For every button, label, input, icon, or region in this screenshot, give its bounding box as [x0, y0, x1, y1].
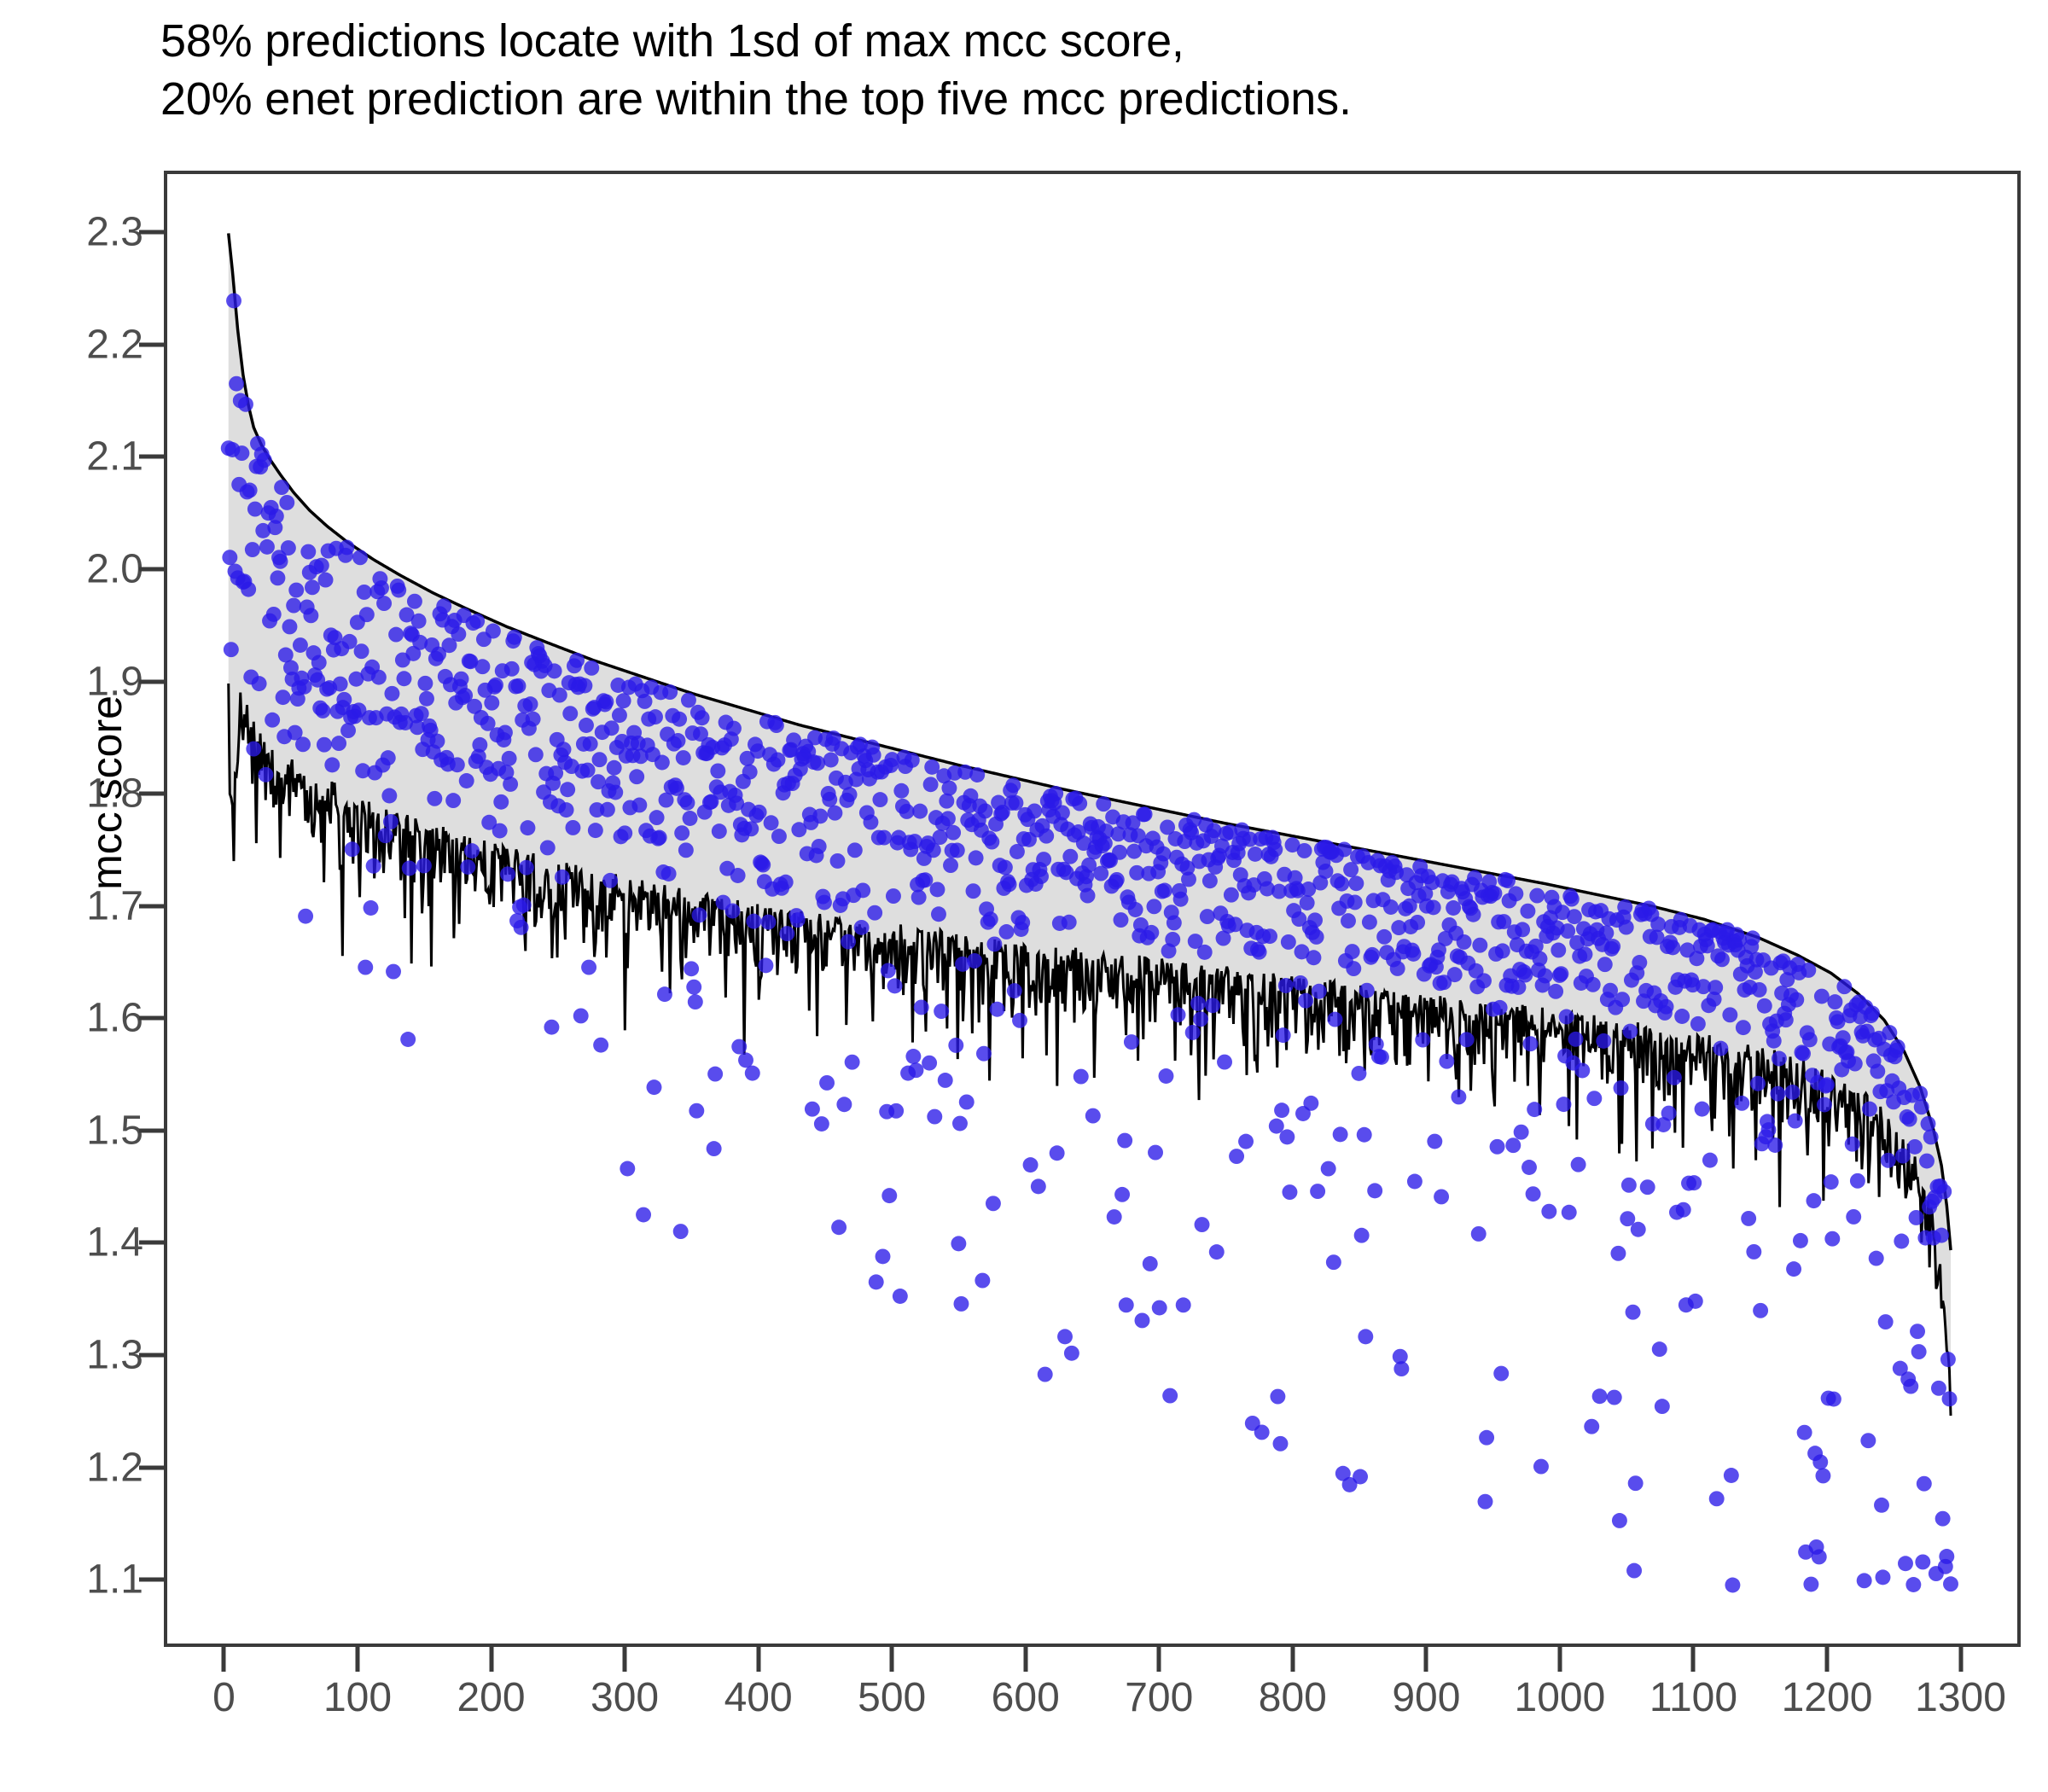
scatter-point	[1343, 862, 1359, 877]
scatter-point	[1345, 944, 1360, 959]
scatter-point	[1862, 1102, 1877, 1117]
scatter-point	[1181, 872, 1196, 887]
scatter-point	[266, 607, 282, 622]
scatter-point	[810, 755, 825, 771]
x-tick-mark	[1557, 1647, 1562, 1672]
scatter-point	[1860, 1433, 1876, 1448]
scatter-point	[1002, 876, 1017, 892]
scatter-point	[673, 1224, 689, 1239]
scatter-point	[1612, 1513, 1627, 1528]
scatter-point	[941, 781, 957, 796]
scatter-point	[1752, 982, 1767, 998]
scatter-point	[933, 829, 948, 845]
scatter-point	[1173, 892, 1189, 907]
y-tick-label: 1.9	[0, 658, 143, 705]
scatter-point	[1318, 864, 1334, 879]
scatter-point	[927, 1109, 942, 1125]
scatter-point	[969, 850, 984, 865]
scatter-point	[584, 660, 599, 676]
scatter-point	[1446, 900, 1461, 916]
scatter-point	[450, 757, 465, 772]
scatter-point	[1407, 1174, 1423, 1190]
scatter-point	[340, 723, 356, 738]
scatter-point	[692, 907, 707, 922]
scatter-point	[1597, 957, 1613, 972]
scatter-point	[502, 751, 517, 766]
scatter-point	[503, 777, 518, 792]
scatter-point	[1185, 1025, 1201, 1040]
scatter-point	[1209, 1244, 1225, 1260]
scatter-point	[769, 718, 784, 733]
scatter-point	[1785, 1085, 1801, 1100]
scatter-point	[1124, 1034, 1139, 1050]
scatter-point	[975, 1273, 990, 1289]
scatter-point	[1459, 1032, 1475, 1047]
scatter-point	[224, 642, 239, 657]
scatter-point	[1114, 1187, 1130, 1202]
scatter-point	[1517, 968, 1533, 983]
scatter-point	[1359, 983, 1375, 998]
scatter-point	[1667, 1070, 1682, 1085]
scatter-point	[388, 627, 404, 643]
scatter-point	[241, 582, 256, 597]
scatter-point	[1190, 996, 1206, 1011]
scatter-point	[608, 785, 623, 800]
scatter-point	[297, 679, 312, 695]
scatter-point	[581, 960, 596, 975]
scatter-point	[695, 710, 710, 725]
scatter-point	[345, 841, 360, 857]
scatter-point	[922, 1056, 937, 1071]
scatter-point	[451, 626, 466, 642]
scatter-point	[1269, 1119, 1284, 1134]
scatter-point	[1652, 1341, 1667, 1357]
scatter-point	[1390, 961, 1405, 976]
scatter-point	[1031, 1178, 1046, 1194]
scatter-point	[381, 788, 397, 804]
scatter-point	[293, 637, 308, 653]
scatter-point	[990, 1002, 1005, 1017]
scatter-point	[1665, 940, 1680, 955]
scatter-point	[1614, 1080, 1629, 1096]
scatter-point	[1027, 803, 1042, 818]
scatter-point	[1112, 845, 1127, 860]
scatter-point	[523, 696, 538, 712]
scatter-point	[648, 709, 663, 724]
scatter-point	[486, 624, 501, 639]
scatter-point	[366, 858, 381, 874]
scatter-point	[276, 689, 291, 705]
scatter-point	[1347, 894, 1363, 910]
scatter-point	[724, 904, 740, 919]
x-tick-mark	[1958, 1647, 1963, 1672]
scatter-point	[959, 1094, 975, 1109]
x-tick-mark	[1424, 1647, 1428, 1672]
y-tick-label: 1.5	[0, 1107, 143, 1154]
scatter-point	[683, 811, 698, 826]
scatter-point	[274, 480, 289, 495]
scatter-point	[1410, 915, 1425, 930]
scatter-point	[1674, 1009, 1690, 1024]
scatter-point	[869, 1274, 884, 1289]
scatter-point	[1023, 1157, 1039, 1172]
x-tick-mark	[1023, 1647, 1027, 1672]
scatter-point	[652, 830, 667, 846]
scatter-point	[764, 815, 779, 830]
y-tick-mark	[139, 230, 164, 235]
scatter-point	[602, 873, 618, 888]
scatter-point	[1836, 1030, 1851, 1045]
scatter-point	[1919, 1154, 1935, 1169]
scatter-point	[755, 858, 771, 873]
scatter-point	[336, 692, 352, 707]
scatter-point	[1878, 1314, 1894, 1329]
x-tick-label: 1300	[1867, 1674, 2048, 1721]
scatter-point	[938, 1073, 953, 1088]
scatter-point	[1688, 1294, 1703, 1309]
scatter-point	[688, 994, 703, 1009]
scatter-point	[707, 1141, 722, 1156]
scatter-point	[881, 1188, 897, 1203]
scatter-point	[552, 688, 567, 703]
scatter-point	[1622, 1024, 1638, 1039]
chart-title-line-2: 20% enet prediction are within the top f…	[160, 70, 1867, 128]
scatter-point	[1836, 979, 1852, 994]
y-tick-mark	[139, 567, 164, 572]
scatter-point	[234, 445, 249, 461]
scatter-point	[1865, 1005, 1880, 1021]
scatter-point	[1617, 899, 1632, 915]
scatter-point	[855, 882, 870, 898]
scatter-point	[1479, 1430, 1494, 1446]
scatter-point	[474, 659, 490, 674]
scatter-point	[1039, 829, 1054, 844]
scatter-point	[612, 707, 627, 723]
scatter-point	[1795, 1046, 1811, 1062]
scatter-point	[1815, 1468, 1830, 1483]
scatter-point	[1553, 966, 1568, 981]
scatter-point	[259, 539, 275, 555]
scatter-point	[1905, 1577, 1921, 1592]
scatter-point	[1281, 934, 1296, 950]
scatter-point	[359, 607, 375, 622]
scatter-point	[812, 808, 828, 823]
scatter-point	[580, 763, 596, 778]
scatter-point	[1564, 892, 1580, 907]
scatter-point	[1912, 1085, 1928, 1101]
scatter-point	[1334, 876, 1349, 892]
scatter-point	[761, 915, 777, 930]
scatter-point	[1457, 934, 1472, 950]
y-tick-mark	[139, 1128, 164, 1132]
scatter-point	[905, 1049, 921, 1064]
scatter-point	[318, 573, 334, 588]
scatter-point	[752, 805, 767, 820]
y-tick-label: 2.3	[0, 209, 143, 256]
scatter-point	[257, 452, 272, 468]
scatter-point	[1096, 796, 1111, 812]
scatter-point	[504, 661, 520, 677]
scatter-point	[1427, 1134, 1442, 1149]
scatter-point	[247, 502, 263, 517]
scatter-point	[1128, 902, 1143, 917]
scatter-point	[1472, 938, 1487, 953]
scatter-point	[459, 773, 474, 788]
x-tick-mark	[623, 1647, 627, 1672]
scatter-point	[1007, 983, 1022, 998]
scatter-point	[1062, 915, 1077, 930]
scatter-point	[555, 870, 570, 885]
scatter-point	[743, 821, 759, 836]
scatter-point	[547, 663, 562, 678]
scatter-point	[1062, 849, 1078, 864]
scatter-point	[1532, 951, 1547, 967]
scatter-point	[1574, 1063, 1590, 1079]
scatter-point	[1915, 1554, 1930, 1569]
scatter-point	[1195, 1217, 1210, 1232]
scatter-point	[1505, 1137, 1521, 1153]
scatter-point	[514, 920, 529, 935]
scatter-point	[1117, 1133, 1132, 1149]
scatter-point	[507, 630, 522, 645]
scatter-point	[911, 890, 927, 905]
scatter-point	[402, 861, 417, 876]
y-tick-mark	[139, 455, 164, 459]
scatter-point	[342, 634, 358, 649]
scatter-point	[738, 1052, 753, 1068]
scatter-point	[731, 1039, 747, 1055]
y-tick-label: 1.1	[0, 1556, 143, 1603]
scatter-point	[246, 742, 261, 757]
scatter-point	[662, 684, 678, 700]
scatter-point	[976, 1046, 992, 1062]
scatter-point	[1746, 1244, 1761, 1260]
y-tick-mark	[139, 1353, 164, 1357]
scatter-point	[812, 839, 827, 854]
scatter-point	[672, 712, 687, 727]
scatter-point	[1362, 915, 1377, 930]
scatter-point	[1326, 1254, 1341, 1270]
scatter-point	[917, 872, 933, 887]
scatter-point	[1734, 1096, 1749, 1111]
scatter-point	[967, 953, 982, 969]
scatter-point	[1607, 1390, 1622, 1405]
scatter-point	[411, 614, 427, 629]
scatter-point	[1819, 1077, 1835, 1092]
scatter-point	[707, 1067, 723, 1082]
scatter-point	[604, 720, 620, 736]
scatter-point	[1146, 899, 1161, 914]
chart-page: 58% predictions locate with 1sd of max m…	[0, 0, 2048, 1792]
scatter-point	[1598, 925, 1614, 940]
scatter-point	[493, 794, 509, 810]
scatter-point	[1072, 796, 1087, 812]
scatter-point	[1135, 1313, 1150, 1329]
scatter-point	[1346, 961, 1361, 976]
scatter-point	[279, 495, 294, 510]
scatter-point	[999, 924, 1015, 940]
scatter-point	[746, 914, 761, 929]
scatter-point	[1309, 929, 1324, 945]
scatter-point	[1353, 1469, 1368, 1485]
scatter-point	[1529, 888, 1545, 904]
scatter-point	[357, 585, 372, 600]
scatter-point	[647, 1079, 662, 1095]
scatter-point	[1165, 932, 1180, 947]
y-tick-label: 1.7	[0, 882, 143, 929]
scatter-point	[758, 957, 773, 973]
scatter-point	[397, 671, 412, 686]
scatter-point	[1159, 1068, 1174, 1084]
scatter-point	[1562, 1205, 1577, 1220]
x-tick-mark	[1290, 1647, 1295, 1672]
scatter-point	[1568, 1032, 1584, 1047]
scatter-point	[814, 1116, 829, 1132]
scatter-point	[1500, 873, 1516, 888]
scatter-point	[1050, 1145, 1065, 1161]
scatter-point	[934, 1004, 949, 1019]
scatter-point	[1523, 1036, 1539, 1051]
scatter-point	[926, 842, 941, 858]
scatter-point	[686, 980, 701, 995]
chart-title-line-1: 58% predictions locate with 1sd of max m…	[160, 12, 1867, 70]
scatter-point	[1119, 1297, 1134, 1312]
x-tick-mark	[1157, 1647, 1161, 1672]
scatter-point	[331, 736, 346, 751]
scatter-point	[1405, 946, 1421, 962]
scatter-point	[516, 898, 532, 913]
y-tick-label: 1.3	[0, 1331, 143, 1378]
scatter-point	[1713, 1041, 1728, 1056]
scatter-point	[1107, 1209, 1122, 1225]
scatter-point	[1824, 1231, 1840, 1247]
scatter-point	[1802, 1032, 1818, 1047]
scatter-point	[1551, 943, 1566, 958]
scatter-point	[333, 677, 348, 692]
scatter-point	[887, 978, 903, 993]
scatter-point	[1902, 1112, 1917, 1127]
scatter-point	[1508, 886, 1523, 901]
scatter-point	[242, 483, 258, 498]
scatter-point	[1661, 1106, 1677, 1121]
scatter-point	[1621, 1178, 1637, 1193]
scatter-point	[1357, 1127, 1372, 1143]
scatter-point	[1615, 992, 1630, 1007]
scatter-point	[281, 540, 296, 556]
scatter-point	[559, 802, 574, 817]
y-tick-label: 2.2	[0, 321, 143, 368]
scatter-point	[1341, 913, 1356, 928]
scatter-point	[497, 725, 513, 741]
scatter-point	[374, 580, 389, 596]
scatter-point	[1934, 1228, 1949, 1243]
scatter-point	[1393, 1361, 1409, 1376]
scatter-point	[1064, 1346, 1079, 1361]
scatter-point	[600, 802, 615, 817]
scatter-point	[1870, 1063, 1885, 1079]
y-tick-mark	[139, 792, 164, 796]
scatter-point	[1354, 1228, 1370, 1243]
scatter-point	[893, 783, 909, 799]
scatter-point	[317, 737, 332, 753]
scatter-point	[1578, 946, 1593, 962]
scatter-point	[588, 823, 603, 838]
scatter-point	[1942, 1391, 1958, 1406]
scatter-point	[1847, 1056, 1863, 1072]
scatter-point	[1702, 1153, 1718, 1168]
scatter-point	[1824, 1174, 1839, 1190]
y-tick-label: 1.8	[0, 771, 143, 817]
scatter-point	[1055, 805, 1070, 820]
scatter-point	[1826, 1392, 1841, 1407]
scatter-point	[1048, 786, 1063, 801]
scatter-point	[416, 858, 432, 873]
scatter-point	[556, 742, 572, 757]
scatter-point	[1538, 969, 1553, 984]
scatter-point	[671, 733, 686, 748]
scatter-point	[1857, 1573, 1872, 1588]
scatter-point	[1033, 869, 1049, 884]
scatter-point	[659, 793, 674, 808]
scatter-point	[419, 691, 434, 707]
scatter-point	[265, 713, 280, 728]
scatter-point	[984, 835, 999, 850]
scatter-point	[460, 859, 475, 875]
scatter-point	[1278, 978, 1294, 993]
scatter-point	[1274, 1103, 1289, 1118]
scatter-point	[629, 769, 644, 784]
scatter-point	[1333, 1126, 1348, 1142]
scatter-point	[311, 655, 327, 670]
scatter-point	[1724, 1468, 1739, 1483]
scatter-point	[1753, 1303, 1768, 1318]
plot-canvas	[167, 174, 2017, 1644]
scatter-point	[371, 670, 387, 685]
scatter-point	[1171, 1007, 1186, 1022]
scatter-point	[1193, 1011, 1208, 1027]
y-tick-label: 2.1	[0, 433, 143, 480]
scatter-point	[893, 1289, 908, 1304]
scatter-point	[1143, 925, 1159, 940]
scatter-point	[1709, 1491, 1725, 1506]
scatter-point	[1143, 1256, 1158, 1271]
scatter-point	[1493, 1366, 1509, 1382]
scatter-point	[1921, 1116, 1936, 1132]
scatter-point	[1057, 1329, 1073, 1344]
scatter-point	[1514, 1125, 1529, 1140]
scatter-point	[1238, 1134, 1254, 1149]
scatter-point	[1526, 1186, 1541, 1201]
scatter-point	[1628, 1475, 1644, 1491]
scatter-point	[1038, 1367, 1053, 1382]
scatter-point	[1936, 1184, 1952, 1199]
scatter-point	[1217, 1055, 1232, 1070]
scatter-point	[520, 820, 535, 835]
scatter-point	[1434, 1189, 1449, 1204]
scatter-point	[598, 694, 614, 709]
scatter-point	[1451, 1090, 1466, 1105]
chart-title: 58% predictions locate with 1sd of max m…	[160, 12, 1867, 128]
scatter-point	[1383, 899, 1399, 915]
scatter-point	[1686, 1175, 1702, 1190]
scatter-point	[573, 1008, 589, 1023]
scatter-point	[951, 1236, 966, 1251]
y-tick-mark	[139, 1578, 164, 1582]
scatter-point	[710, 763, 725, 778]
scatter-point	[1650, 916, 1666, 932]
scatter-point	[1797, 1425, 1812, 1440]
scatter-point	[1778, 1012, 1794, 1027]
